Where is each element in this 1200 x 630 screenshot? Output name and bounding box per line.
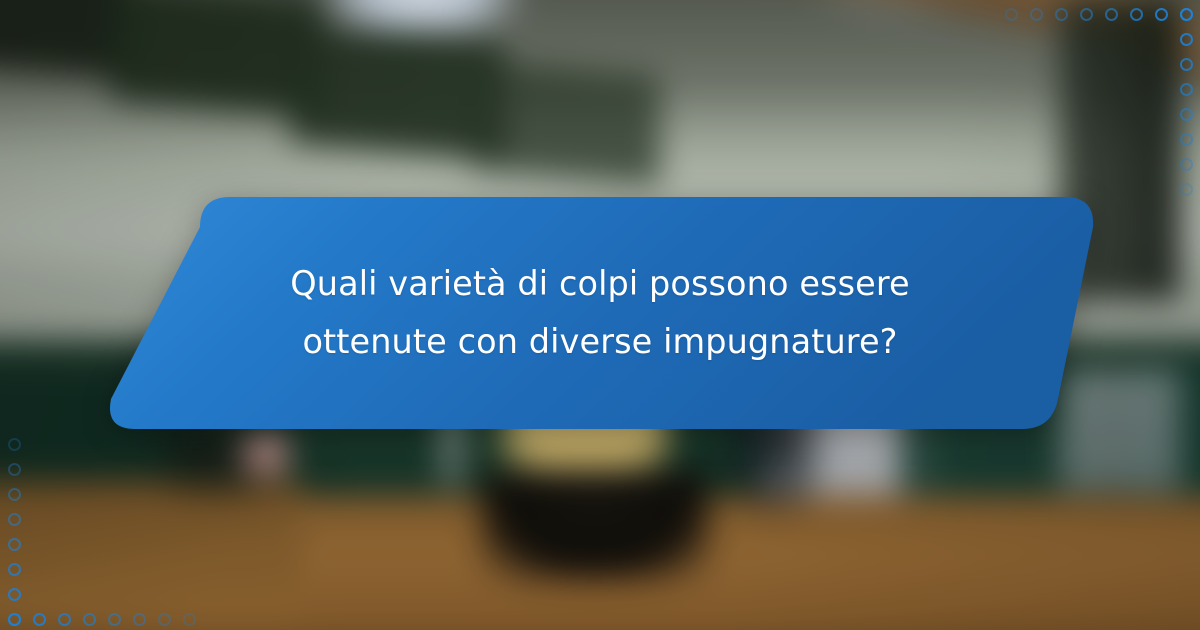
decor-dot	[1180, 108, 1193, 121]
decor-dot	[1180, 133, 1193, 146]
decor-dot	[8, 438, 21, 451]
decor-dot	[1155, 8, 1168, 21]
decor-dot	[8, 513, 21, 526]
decor-dot	[183, 613, 196, 626]
decor-dot	[1030, 8, 1043, 21]
decor-dot	[1180, 83, 1193, 96]
decor-dot	[1130, 8, 1143, 21]
decor-dot	[1005, 8, 1018, 21]
decor-dot	[1180, 183, 1193, 196]
decor-dot	[33, 613, 46, 626]
decor-dot	[108, 613, 121, 626]
decor-dot	[8, 488, 21, 501]
decor-dot	[1105, 8, 1118, 21]
decor-dot	[8, 613, 21, 626]
decor-dot	[1055, 8, 1068, 21]
decor-dot	[1180, 8, 1193, 21]
decor-dot	[1180, 33, 1193, 46]
quote-card: Quali varietà di colpi possono essere ot…	[0, 0, 1200, 630]
decor-dot	[83, 613, 96, 626]
question-text: Quali varietà di colpi possono essere ot…	[270, 255, 930, 370]
decor-dot	[1180, 158, 1193, 171]
decor-dot	[8, 563, 21, 576]
question-banner: Quali varietà di colpi possono essere ot…	[100, 195, 1100, 431]
decor-dot	[8, 463, 21, 476]
decor-dot	[1180, 58, 1193, 71]
decor-dot	[133, 613, 146, 626]
decor-dot	[8, 538, 21, 551]
decor-dot	[158, 613, 171, 626]
question-text-wrap: Quali varietà di colpi possono essere ot…	[100, 195, 1100, 431]
decor-dot	[58, 613, 71, 626]
decor-dot	[1080, 8, 1093, 21]
decor-dot	[8, 588, 21, 601]
